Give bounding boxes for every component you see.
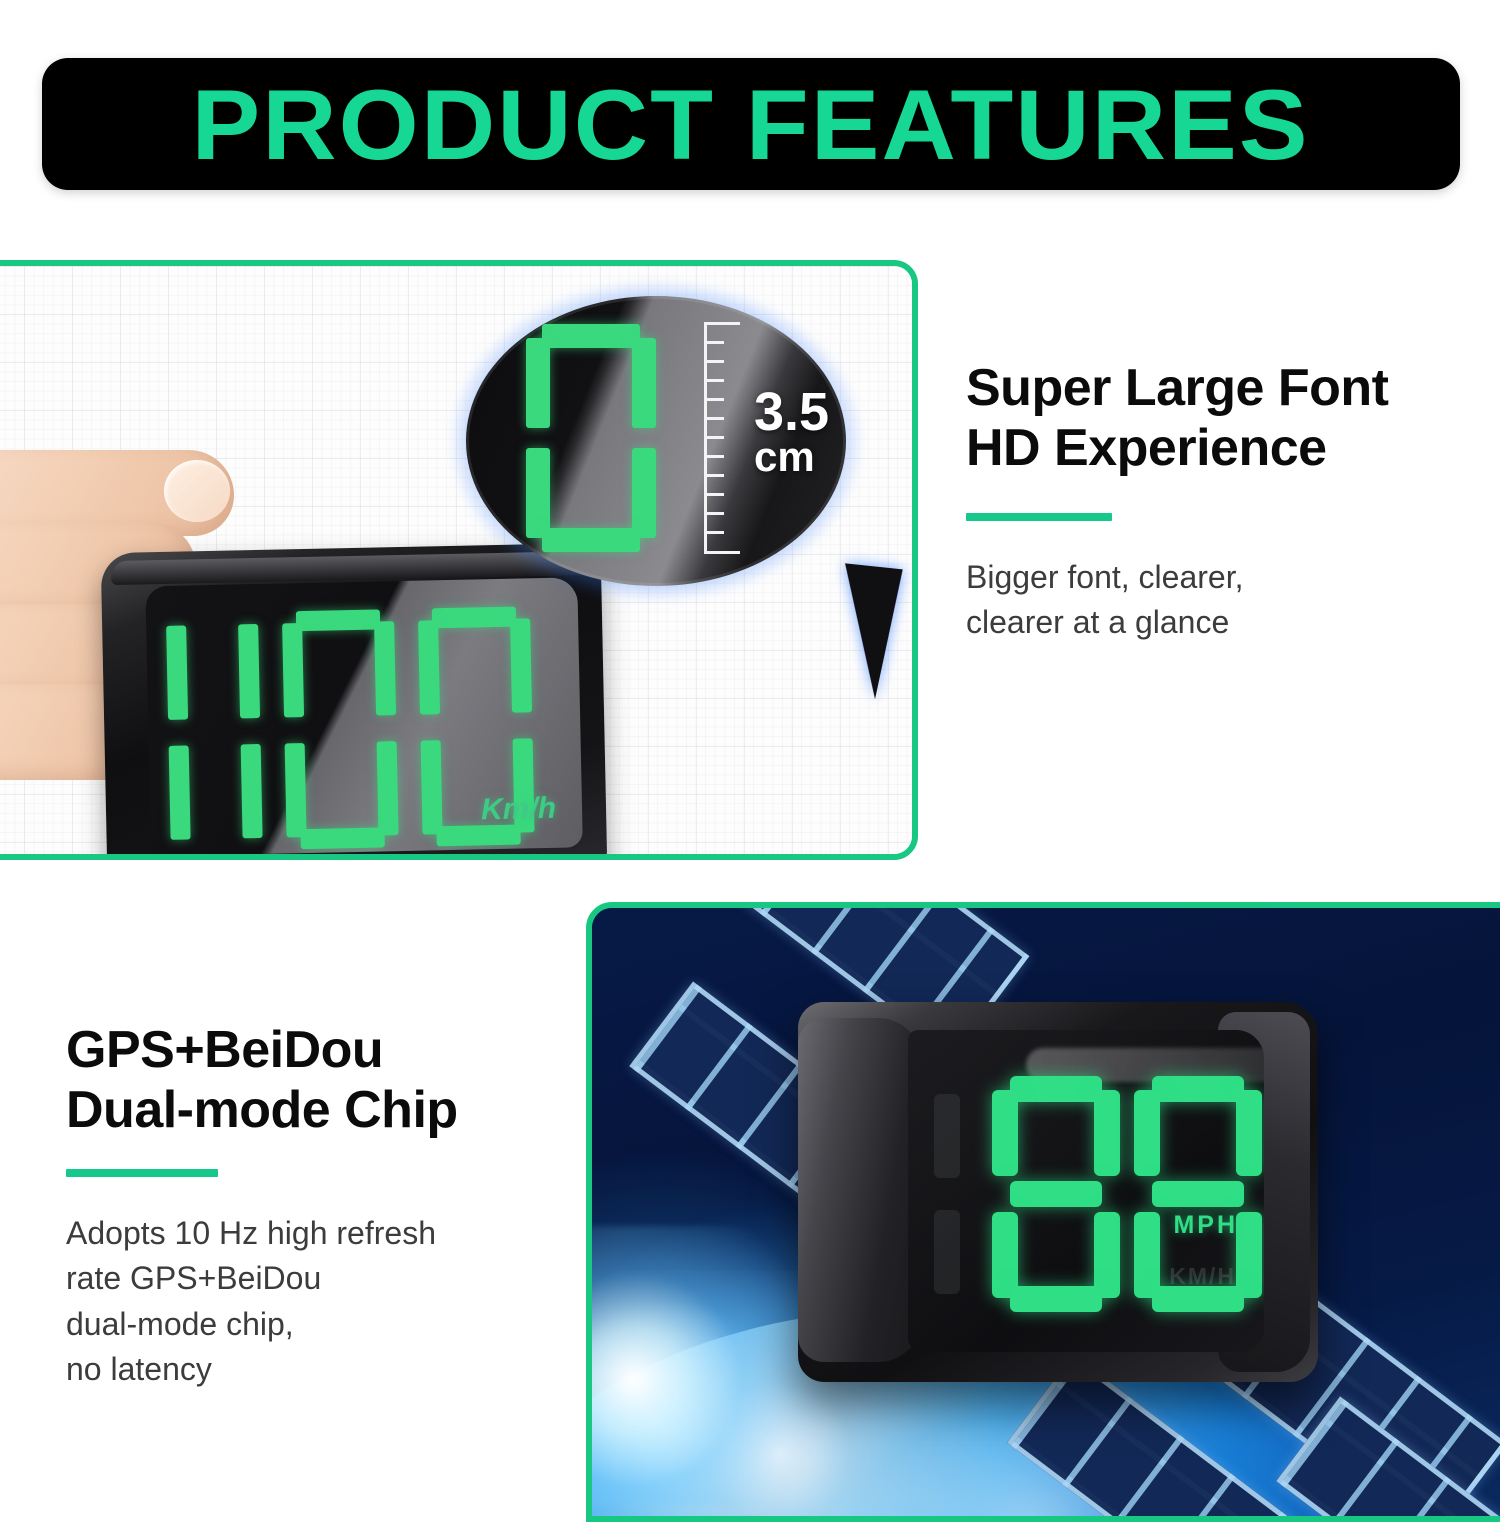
- ruler-tick: [704, 493, 724, 496]
- segment-upper-left: [282, 623, 304, 717]
- feature-title: Super Large Font HD Experience: [966, 358, 1466, 479]
- feature-title-line1: GPS+BeiDou: [66, 1020, 606, 1080]
- segment-lower-left: [169, 745, 191, 839]
- ruler-tick: [704, 322, 740, 325]
- segment-upper-left: [992, 1090, 1018, 1176]
- feature-description-line4: no latency: [66, 1347, 606, 1392]
- device-unit-label-inactive: KM/H: [1169, 1263, 1236, 1290]
- feature-description-line3: dual-mode chip,: [66, 1302, 606, 1347]
- segment-top: [1010, 1076, 1102, 1102]
- segment-upper-right: [374, 621, 396, 715]
- ruler-tick: [704, 455, 724, 458]
- device-unit-label-active: MPH: [1173, 1211, 1238, 1240]
- segment-upper-right: [1236, 1090, 1262, 1176]
- segment-upper-right: [510, 618, 532, 712]
- segment-middle: [1010, 1181, 1102, 1207]
- magnified-seven-segment-digit: [526, 324, 656, 552]
- segment-upper-right: [238, 624, 260, 718]
- feature-image-panel-gps-beidou: MPH KM/H: [586, 902, 1500, 1522]
- segment-top: [432, 607, 516, 629]
- segment-upper-left: [526, 338, 550, 428]
- feature-title: GPS+BeiDou Dual-mode Chip: [66, 1020, 606, 1141]
- feature-description-line2: clearer at a glance: [966, 600, 1466, 645]
- segment-lower-left: [285, 743, 307, 837]
- feature-title-line1: Super Large Font: [966, 358, 1466, 418]
- feature-title-line2: HD Experience: [966, 418, 1466, 478]
- segment-upper-right: [1094, 1090, 1120, 1176]
- segment-upper-left: [418, 620, 440, 714]
- segment-lower-right: [632, 448, 656, 538]
- feature-description: Bigger font, clearer, clearer at a glanc…: [966, 555, 1466, 646]
- feature-text-gps-beidou: GPS+BeiDou Dual-mode Chip Adopts 10 Hz h…: [66, 1020, 606, 1392]
- callout-measurement-unit: cm: [754, 438, 829, 477]
- segment-lower-right: [377, 741, 399, 835]
- seven-segment-digit-1: [992, 1076, 1120, 1312]
- device-side-housing: [798, 1018, 922, 1362]
- ruler-tick: [704, 379, 724, 382]
- device-screen: Km/h: [145, 577, 583, 856]
- callout-body: 3.5 cm: [466, 296, 846, 586]
- segment-lower-right: [1236, 1212, 1262, 1298]
- ruler-scale-icon: [704, 322, 744, 554]
- ruler-tick: [704, 531, 724, 534]
- seven-segment-ghost-digit: [926, 1084, 972, 1304]
- fingernail: [164, 460, 230, 522]
- callout-measurement: 3.5 cm: [754, 388, 829, 476]
- ruler-tick: [704, 436, 724, 439]
- feature-description-line1: Adopts 10 Hz high refresh: [66, 1211, 606, 1256]
- callout-measurement-value: 3.5: [754, 388, 829, 438]
- feature-text-super-large-font: Super Large Font HD Experience Bigger fo…: [966, 358, 1466, 646]
- device-unit-label: Km/h: [481, 792, 557, 828]
- product-features-infographic: PRODUCT FEATURES: [0, 0, 1500, 1500]
- feature-title-line2: Dual-mode Chip: [66, 1080, 606, 1140]
- hud-device-front: Km/h: [101, 543, 608, 860]
- ruler-tick: [704, 360, 724, 363]
- hud-device-angled: MPH KM/H: [798, 1002, 1318, 1382]
- segment-lower-right: [241, 744, 263, 838]
- device-screen: MPH KM/H: [908, 1030, 1264, 1352]
- ruler-tick: [704, 474, 724, 477]
- segment-lower-right: [1094, 1212, 1120, 1298]
- segment-top: [296, 609, 380, 631]
- segment-upper-left: [1134, 1090, 1160, 1176]
- ruler-tick: [704, 512, 724, 515]
- segment-upper-left-off: [934, 1094, 960, 1178]
- accent-rule: [966, 513, 1112, 521]
- segment-middle: [1152, 1181, 1244, 1207]
- accent-rule: [66, 1169, 218, 1177]
- feature-description: Adopts 10 Hz high refresh rate GPS+BeiDo…: [66, 1211, 606, 1393]
- header-bar: PRODUCT FEATURES: [42, 58, 1460, 190]
- segment-top: [542, 324, 640, 348]
- segment-lower-left-off: [934, 1210, 960, 1294]
- magnifier-callout: 3.5 cm: [466, 296, 846, 586]
- feature-description-line1: Bigger font, clearer,: [966, 555, 1466, 600]
- segment-bottom: [436, 825, 520, 847]
- segment-upper-left: [166, 625, 188, 719]
- ruler-tick: [704, 417, 724, 420]
- ruler-tick: [704, 398, 724, 401]
- segment-upper-right: [632, 338, 656, 428]
- ruler-tick: [704, 341, 724, 344]
- segment-bottom: [542, 528, 640, 552]
- feature-description-line2: rate GPS+BeiDou: [66, 1256, 606, 1301]
- segment-bottom: [300, 827, 384, 849]
- seven-segment-digit-2: [282, 609, 399, 849]
- segment-bottom: [1010, 1286, 1102, 1312]
- page-title: PRODUCT FEATURES: [192, 75, 1310, 174]
- seven-segment-digit-1: [166, 612, 263, 852]
- ruler-tick: [704, 551, 740, 554]
- segment-lower-left: [421, 740, 443, 834]
- feature-image-panel-super-large-font: Km/h: [0, 260, 918, 860]
- segment-top: [1152, 1076, 1244, 1102]
- segment-lower-left: [526, 448, 550, 538]
